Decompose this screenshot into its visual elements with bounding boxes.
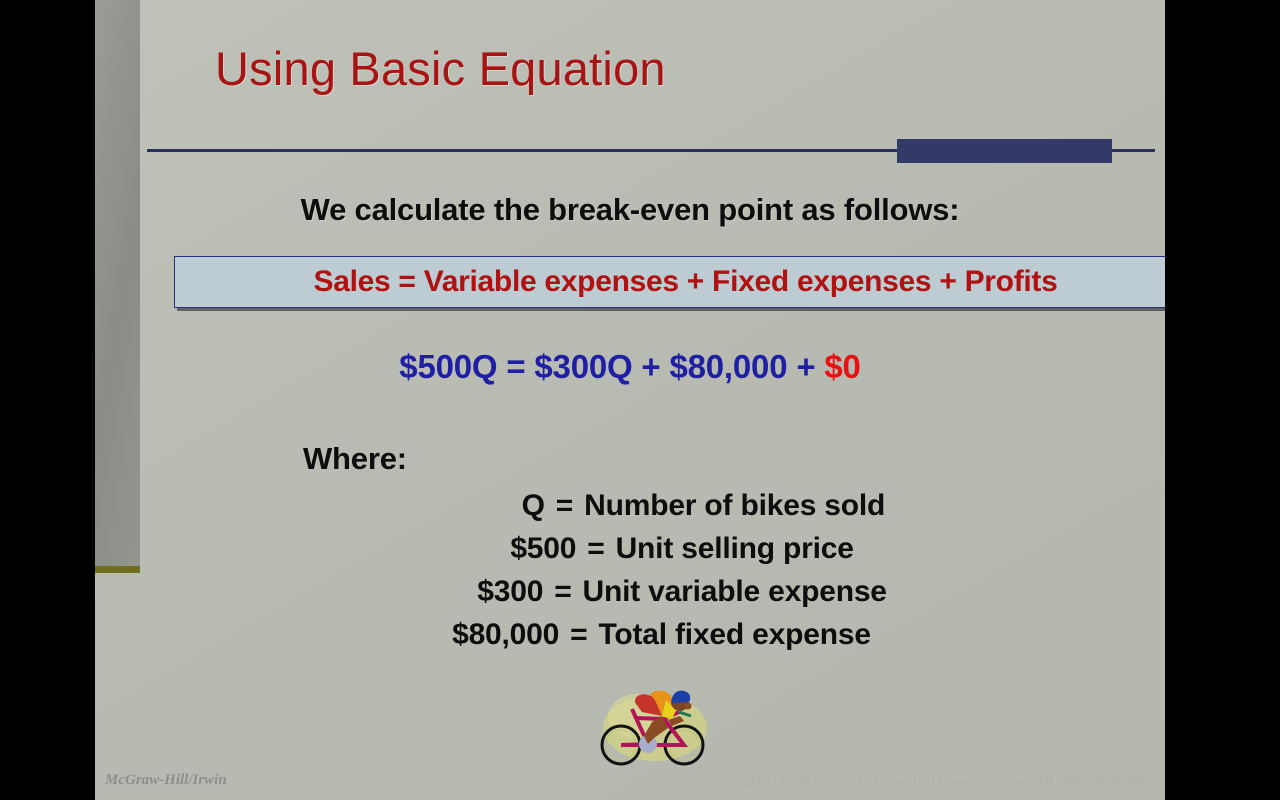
definition-row: $80,000 = Total fixed expense [389,613,871,656]
lead-statement: We calculate the break-even point as fol… [95,192,1165,228]
definition-term: $500 [406,527,587,570]
definition-row: $500 = Unit selling price [406,527,853,570]
presentation-stage: Using Basic Equation We calculate the br… [0,0,1280,800]
definition-description: Unit selling price [616,527,854,570]
definition-row: Q = Number of bikes sold [375,484,885,527]
definition-term: Q [375,484,556,527]
equation-callout-text: Sales = Variable expenses + Fixed expens… [314,265,1058,299]
definitions-list: Q = Number of bikes sold $500 = Unit sel… [95,484,1165,656]
slide-title: Using Basic Equation [215,44,666,93]
where-label: Where: [303,441,407,477]
equation-callout-box: Sales = Variable expenses + Fixed expens… [174,256,1165,308]
cyclist-icon [592,676,714,772]
definition-description: Number of bikes sold [584,484,885,527]
definition-row: $300 = Unit variable expense [373,570,887,613]
footer-copyright: Copyright © 2008 by The McGraw-Hill Comp… [703,774,1147,791]
definition-description: Unit variable expense [583,570,887,613]
definition-term: $80,000 [389,613,570,656]
definition-equals: = [570,613,598,656]
definition-equals: = [556,484,584,527]
slide-canvas: Using Basic Equation We calculate the br… [95,0,1165,800]
definition-description: Total fixed expense [598,613,870,656]
title-divider-accent-block [897,139,1112,163]
equation-profit-term: $0 [824,348,860,385]
definition-term: $300 [373,570,554,613]
definition-equals: = [554,570,582,613]
equation-blue-terms: $500Q = $300Q + $80,000 + [399,348,824,385]
numeric-equation: $500Q = $300Q + $80,000 + $0 [95,348,1165,386]
definition-equals: = [587,527,615,570]
footer-publisher: McGraw-Hill/Irwin [105,772,227,789]
